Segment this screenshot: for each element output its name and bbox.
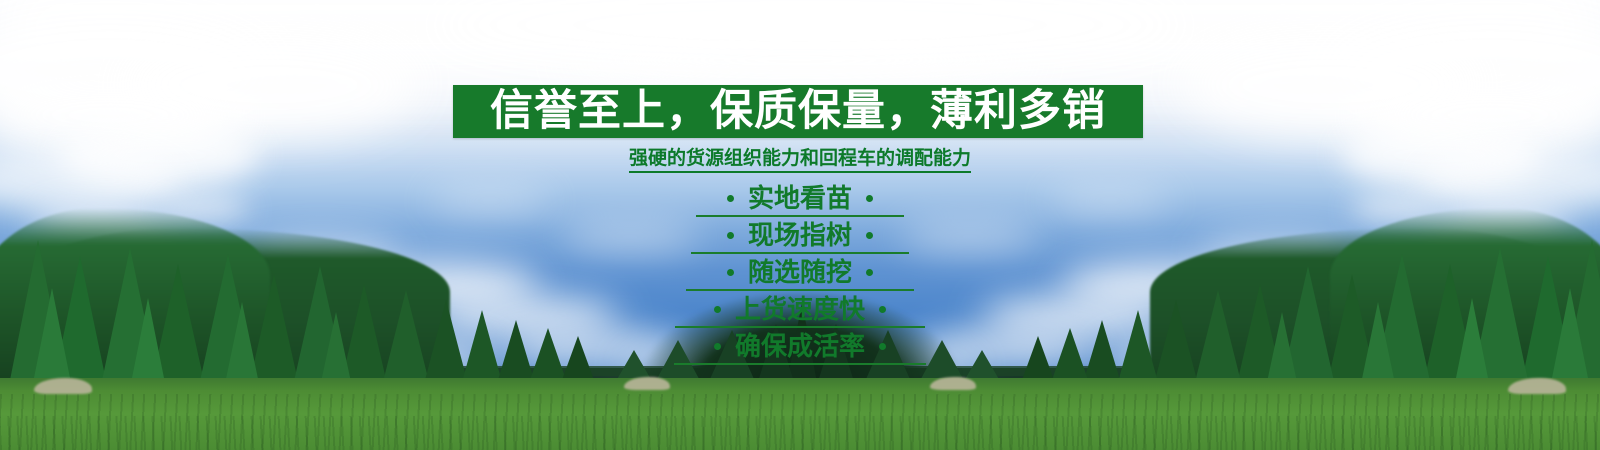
promo-banner: 信誉至上，保质保量，薄利多销 强硬的货源组织能力和回程车的调配能力 实地看苗 现… (0, 0, 1600, 450)
feature-label: 现场指树 (734, 221, 866, 251)
field-rock (34, 378, 92, 394)
headline-banner: 信誉至上，保质保量，薄利多销 (453, 85, 1143, 138)
field-rock (930, 377, 976, 390)
bullet-dot-icon (727, 195, 734, 202)
bullet-dot-icon (866, 232, 873, 239)
bullet-dot-icon (727, 232, 734, 239)
bullet-dot-icon (866, 269, 873, 276)
feature-list: 实地看苗 现场指树 随选随挖 上货速度快 (0, 180, 1600, 365)
headline-text: 信誉至上，保质保量，薄利多销 (453, 85, 1143, 138)
feature-row: 实地看苗 (0, 180, 1600, 217)
bullet-dot-icon (866, 195, 873, 202)
subtitle: 强硬的货源组织能力和回程车的调配能力 (0, 145, 1600, 171)
feature-label: 实地看苗 (734, 184, 866, 214)
feature-row: 现场指树 (0, 217, 1600, 254)
bullet-dot-icon (879, 343, 886, 350)
feature-label: 随选随挖 (734, 258, 866, 288)
feature-row: 确保成活率 (0, 328, 1600, 365)
feature-label: 确保成活率 (721, 332, 879, 362)
bullet-dot-icon (727, 269, 734, 276)
field-furrows (0, 416, 1600, 450)
bullet-dot-icon (879, 306, 886, 313)
cloud (560, 30, 1040, 90)
bullet-dot-icon (714, 343, 721, 350)
subtitle-text: 强硬的货源组织能力和回程车的调配能力 (629, 147, 971, 173)
feature-row: 随选随挖 (0, 254, 1600, 291)
field-rock (1508, 378, 1566, 394)
feature-underline (674, 363, 926, 365)
feature-row: 上货速度快 (0, 291, 1600, 328)
field-rock (624, 377, 670, 390)
feature-label: 上货速度快 (721, 295, 879, 325)
bullet-dot-icon (714, 306, 721, 313)
